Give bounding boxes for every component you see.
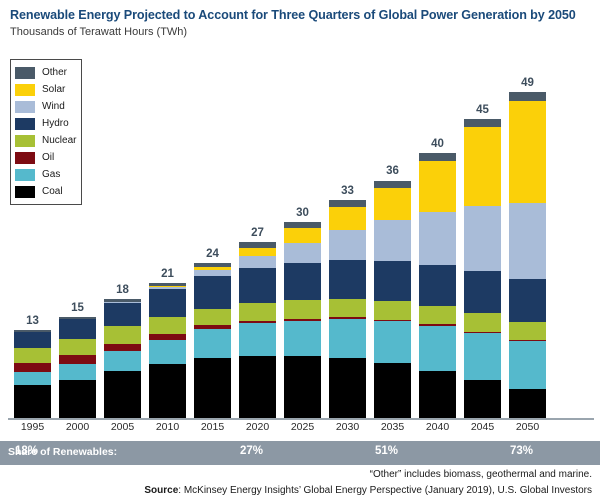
bar-column-2040[interactable]: 40 (419, 56, 456, 418)
legend-item-label: Coal (42, 186, 63, 197)
x-axis-label-2020: 2020 (239, 421, 276, 433)
bar-segment-solar-2040 (419, 161, 456, 211)
legend-swatch-gas-icon (15, 169, 35, 181)
bar-segment-wind-2045 (464, 206, 501, 272)
x-axis-label-2050: 2050 (509, 421, 546, 433)
bar-column-2020[interactable]: 27 (239, 56, 276, 418)
bar-segment-nuclear-2040 (419, 306, 456, 325)
bar-segment-nuclear-2035 (374, 301, 411, 320)
legend-item-gas[interactable]: Gas (15, 166, 77, 183)
x-axis-tick-labels: 1995200020052010201520202025203020352040… (0, 421, 600, 439)
bar-value-label: 40 (419, 138, 456, 150)
bar-segment-coal-2040 (419, 371, 456, 418)
bar-segment-solar-2020 (239, 248, 276, 256)
bar-segment-hydro-2035 (374, 261, 411, 301)
share-value-1995: 18% (15, 445, 38, 457)
bar-segment-other-2040 (419, 153, 456, 161)
bar-stack (104, 299, 141, 418)
bar-segment-coal-2005 (104, 371, 141, 418)
page-title: Renewable Energy Projected to Account fo… (10, 7, 590, 23)
x-axis-label-2030: 2030 (329, 421, 366, 433)
bar-stack (374, 180, 411, 418)
bar-stack (59, 317, 96, 419)
bar-segment-wind-2020 (239, 256, 276, 269)
bar-column-2050[interactable]: 49 (509, 56, 546, 418)
bar-segment-coal-2045 (464, 380, 501, 418)
bar-segment-nuclear-2000 (59, 339, 96, 355)
bar-segment-hydro-1995 (14, 332, 51, 348)
bar-segment-gas-2035 (374, 321, 411, 363)
bar-segment-solar-2050 (509, 101, 546, 203)
bar-value-label: 18 (104, 284, 141, 296)
legend-swatch-solar-icon (15, 84, 35, 96)
bar-segment-solar-2025 (284, 228, 321, 243)
bar-stack (509, 92, 546, 418)
bar-value-label: 36 (374, 165, 411, 177)
bar-segment-hydro-2020 (239, 268, 276, 303)
plot-area: OtherSolarWindHydroNuclearOilGasCoal 131… (0, 56, 600, 418)
bar-value-label: 27 (239, 227, 276, 239)
share-of-renewables-band: Share of Renewables: 18%27%51%73% (0, 441, 600, 465)
bar-segment-gas-2000 (59, 364, 96, 381)
x-axis-label-2045: 2045 (464, 421, 501, 433)
bar-segment-gas-2045 (464, 333, 501, 379)
legend-item-label: Gas (42, 169, 60, 180)
legend-item-label: Hydro (42, 118, 69, 129)
legend-item-solar[interactable]: Solar (15, 81, 77, 98)
bar-series-container: 131518212427303336404549 (0, 56, 600, 418)
bar-segment-nuclear-2045 (464, 313, 501, 332)
bar-segment-other-2035 (374, 181, 411, 188)
legend-item-label: Wind (42, 101, 65, 112)
x-axis-label-2025: 2025 (284, 421, 321, 433)
bar-segment-coal-2025 (284, 356, 321, 418)
bar-column-2010[interactable]: 21 (149, 56, 186, 418)
bar-segment-nuclear-2050 (509, 322, 546, 341)
bar-segment-solar-2045 (464, 127, 501, 205)
legend-swatch-hydro-icon (15, 118, 35, 130)
bar-segment-coal-2010 (149, 364, 186, 418)
bar-segment-gas-2010 (149, 340, 186, 364)
legend-item-oil[interactable]: Oil (15, 149, 77, 166)
bar-segment-gas-2025 (284, 321, 321, 357)
x-axis-label-2010: 2010 (149, 421, 186, 433)
x-axis-label-2035: 2035 (374, 421, 411, 433)
bar-stack (14, 330, 51, 418)
bar-segment-coal-2030 (329, 358, 366, 418)
bar-segment-hydro-2040 (419, 265, 456, 306)
bar-segment-hydro-2025 (284, 263, 321, 299)
x-axis-label-2000: 2000 (59, 421, 96, 433)
bar-column-2015[interactable]: 24 (194, 56, 231, 418)
legend-swatch-oil-icon (15, 152, 35, 164)
bar-segment-coal-2020 (239, 356, 276, 418)
bar-value-label: 24 (194, 248, 231, 260)
bar-segment-nuclear-2005 (104, 326, 141, 343)
bar-segment-nuclear-2020 (239, 303, 276, 321)
x-axis-label-2005: 2005 (104, 421, 141, 433)
share-value-2020: 27% (240, 445, 263, 457)
bar-segment-gas-2030 (329, 319, 366, 358)
chart-legend: OtherSolarWindHydroNuclearOilGasCoal (10, 59, 82, 205)
x-axis-label-2015: 2015 (194, 421, 231, 433)
x-axis-label-1995: 1995 (14, 421, 51, 433)
bar-value-label: 45 (464, 104, 501, 116)
bar-segment-oil-2005 (104, 344, 141, 351)
bar-segment-gas-2040 (419, 326, 456, 371)
bar-value-label: 49 (509, 77, 546, 89)
bar-stack (329, 200, 366, 418)
chart-source: Source: McKinsey Energy Insights’ Global… (144, 485, 592, 496)
bar-value-label: 13 (14, 315, 51, 327)
bar-segment-oil-1995 (14, 363, 51, 372)
bar-column-2025[interactable]: 30 (284, 56, 321, 418)
bar-segment-gas-2015 (194, 329, 231, 358)
share-value-2035: 51% (375, 445, 398, 457)
bar-segment-hydro-2045 (464, 271, 501, 313)
legend-swatch-other-icon (15, 67, 35, 79)
bar-stack (149, 283, 186, 418)
bar-segment-hydro-2030 (329, 260, 366, 298)
bar-segment-solar-2030 (329, 207, 366, 230)
bar-segment-hydro-2015 (194, 276, 231, 309)
bar-segment-gas-2020 (239, 323, 276, 356)
bar-value-label: 15 (59, 302, 96, 314)
bar-stack (419, 153, 456, 418)
bar-stack (239, 242, 276, 418)
x-axis-label-2040: 2040 (419, 421, 456, 433)
bar-segment-wind-2050 (509, 203, 546, 279)
bar-segment-hydro-2010 (149, 289, 186, 318)
bar-segment-gas-2050 (509, 341, 546, 389)
bar-stack (464, 119, 501, 418)
bar-segment-coal-2050 (509, 389, 546, 418)
bar-column-2035[interactable]: 36 (374, 56, 411, 418)
bar-segment-hydro-2000 (59, 319, 96, 339)
chart-footnote: “Other” includes biomass, geothermal and… (370, 469, 592, 480)
legend-swatch-coal-icon (15, 186, 35, 198)
x-axis-line (8, 418, 594, 420)
bar-segment-nuclear-2025 (284, 300, 321, 319)
bar-segment-coal-2015 (194, 358, 231, 418)
bar-segment-nuclear-1995 (14, 348, 51, 363)
bar-segment-hydro-2005 (104, 303, 141, 327)
bar-segment-hydro-2050 (509, 279, 546, 322)
legend-item-other[interactable]: Other (15, 64, 77, 81)
bar-segment-other-2030 (329, 200, 366, 207)
bar-stack (194, 263, 231, 418)
bar-segment-nuclear-2030 (329, 299, 366, 318)
bar-value-label: 33 (329, 185, 366, 197)
source-text: : McKinsey Energy Insights’ Global Energ… (178, 485, 592, 496)
bar-segment-wind-2030 (329, 230, 366, 261)
bar-segment-gas-1995 (14, 372, 51, 385)
bar-segment-other-2050 (509, 92, 546, 101)
bar-segment-other-2045 (464, 119, 501, 128)
bar-segment-oil-2000 (59, 355, 96, 364)
legend-swatch-nuclear-icon (15, 135, 35, 147)
legend-item-wind[interactable]: Wind (15, 98, 77, 115)
bar-column-2045[interactable]: 45 (464, 56, 501, 418)
bar-segment-coal-1995 (14, 385, 51, 418)
bar-segment-wind-2025 (284, 243, 321, 264)
bar-segment-wind-2035 (374, 220, 411, 261)
chart-header: Renewable Energy Projected to Account fo… (0, 0, 600, 39)
bar-column-2005[interactable]: 18 (104, 56, 141, 418)
bar-segment-coal-2000 (59, 380, 96, 418)
legend-item-nuclear[interactable]: Nuclear (15, 132, 77, 149)
legend-item-coal[interactable]: Coal (15, 183, 77, 200)
bar-value-label: 30 (284, 207, 321, 219)
bar-column-2030[interactable]: 33 (329, 56, 366, 418)
bar-segment-solar-2035 (374, 188, 411, 221)
legend-item-label: Solar (42, 84, 65, 95)
bar-value-label: 21 (149, 268, 186, 280)
bar-segment-gas-2005 (104, 351, 141, 371)
chart-subtitle: Thousands of Terawatt Hours (TWh) (10, 26, 590, 39)
bar-segment-wind-2040 (419, 212, 456, 265)
bar-segment-nuclear-2015 (194, 309, 231, 326)
share-value-2050: 73% (510, 445, 533, 457)
legend-item-label: Oil (42, 152, 54, 163)
bar-stack (284, 222, 321, 418)
legend-item-hydro[interactable]: Hydro (15, 115, 77, 132)
bar-segment-coal-2035 (374, 363, 411, 418)
legend-item-label: Other (42, 67, 67, 78)
legend-item-label: Nuclear (42, 135, 76, 146)
bar-segment-nuclear-2010 (149, 317, 186, 334)
source-label: Source (144, 485, 178, 496)
legend-swatch-wind-icon (15, 101, 35, 113)
